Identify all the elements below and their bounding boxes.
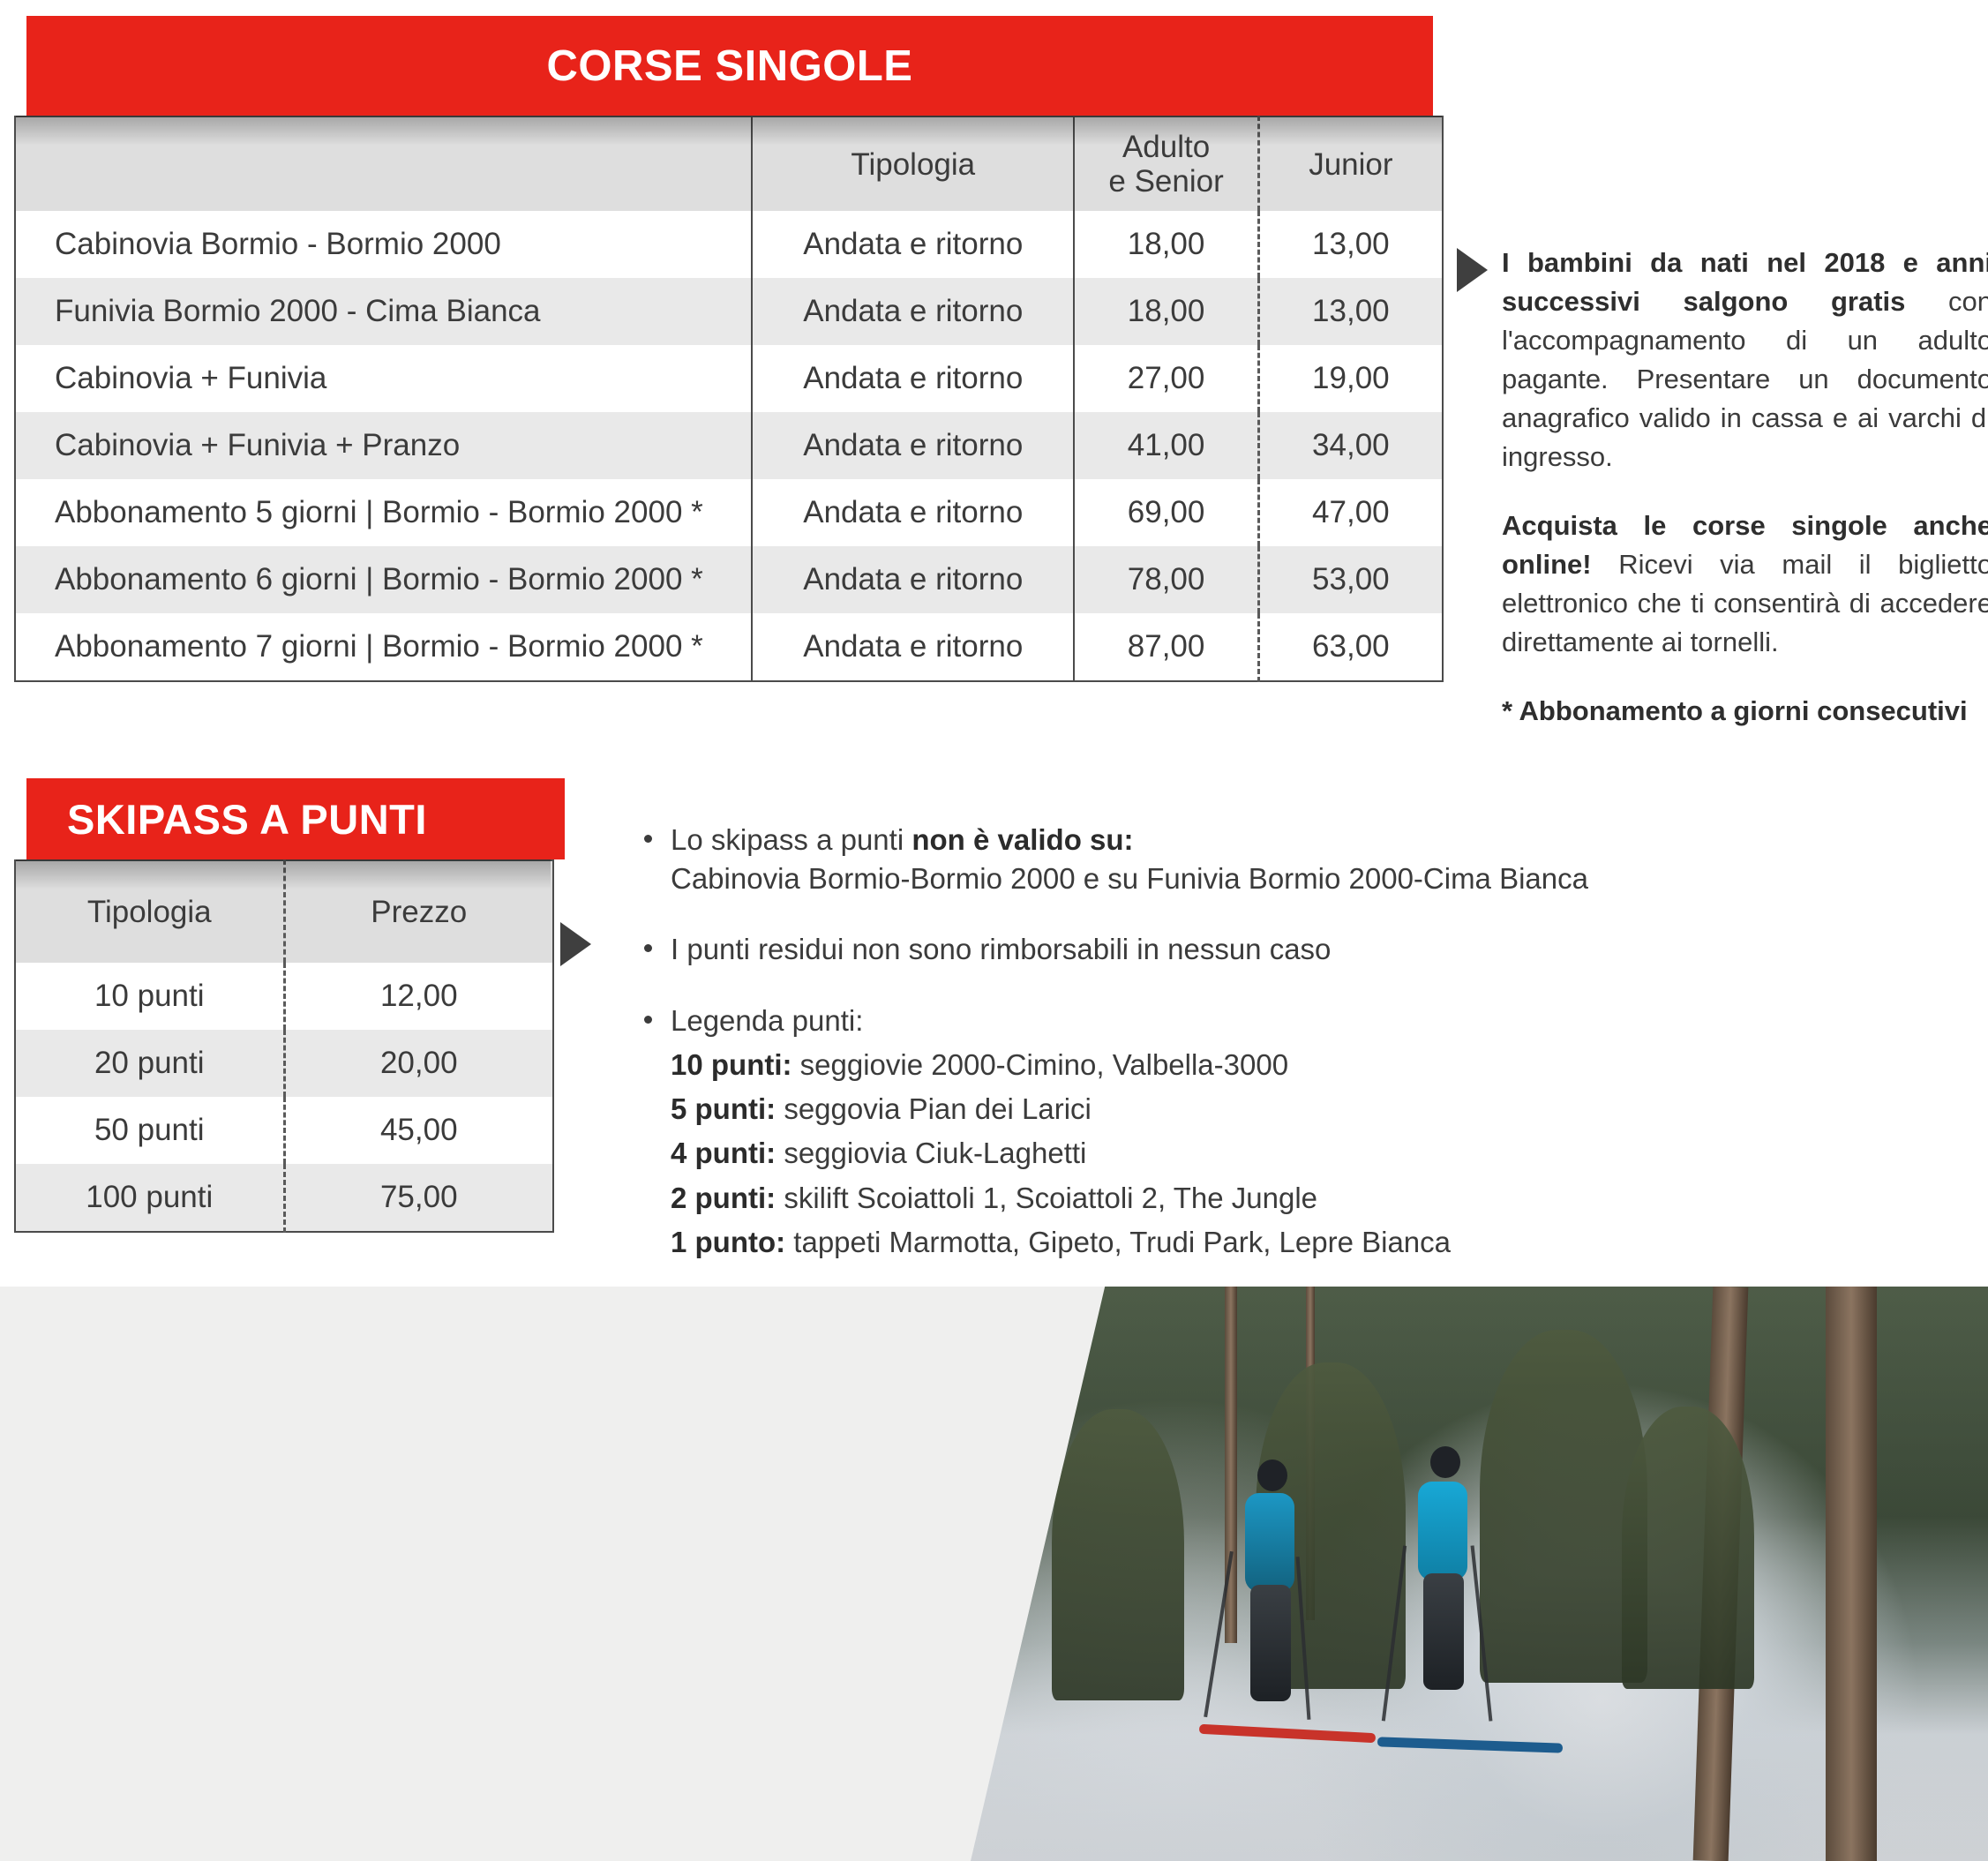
bullet-dot-icon bbox=[644, 944, 652, 952]
corse-row-tipologia: Andata e ritorno bbox=[752, 211, 1074, 278]
legend-points: 5 punti: bbox=[671, 1092, 776, 1125]
legend-points: 4 punti: bbox=[671, 1137, 776, 1169]
corse-row-tipologia: Andata e ritorno bbox=[752, 412, 1074, 479]
legend-desc: seggovia Pian dei Larici bbox=[776, 1092, 1092, 1125]
skipass-header-row: Tipologia Prezzo bbox=[15, 860, 553, 963]
corse-row-junior: 13,00 bbox=[1258, 278, 1443, 345]
corse-row-adulto: 27,00 bbox=[1074, 345, 1258, 412]
legend-points: 10 punti: bbox=[671, 1048, 792, 1081]
corse-singole-title: CORSE SINGOLE bbox=[547, 41, 913, 91]
skipass-header-prezzo: Prezzo bbox=[284, 860, 553, 963]
skipass-row-tipologia: 50 punti bbox=[15, 1097, 284, 1164]
skipass-bullet-legenda: Legenda punti: 10 punti: seggiovie 2000-… bbox=[644, 1002, 1615, 1262]
corse-note-bambini: I bambini da nati nel 2018 e anni succes… bbox=[1502, 244, 1988, 477]
skipass-bullet-validita: Lo skipass a punti non è valido su: Cabi… bbox=[644, 821, 1615, 898]
table-row: Funivia Bormio 2000 - Cima Bianca Andata… bbox=[15, 278, 1443, 345]
corse-row-junior: 13,00 bbox=[1258, 211, 1443, 278]
legend-desc: skilift Scoiattoli 1, Scoiattoli 2, The … bbox=[776, 1182, 1317, 1214]
table-row: Cabinovia Bormio - Bormio 2000 Andata e … bbox=[15, 211, 1443, 278]
skipass-bullet-line2: Cabinovia Bormio-Bormio 2000 e su Funivi… bbox=[671, 859, 1615, 898]
skipass-row-prezzo: 20,00 bbox=[284, 1030, 553, 1097]
corse-singole-table: Tipologia Adulto e Senior Junior Cabinov… bbox=[14, 116, 1444, 682]
corse-singole-banner: CORSE SINGOLE bbox=[26, 16, 1433, 116]
table-row: 100 punti 75,00 bbox=[15, 1164, 553, 1232]
skipass-header-tipologia: Tipologia bbox=[15, 860, 284, 963]
list-item: 1 punto: tappeti Marmotta, Gipeto, Trudi… bbox=[671, 1223, 1615, 1262]
list-item: 2 punti: skilift Scoiattoli 1, Scoiattol… bbox=[671, 1179, 1615, 1218]
corse-row-tipologia: Andata e ritorno bbox=[752, 479, 1074, 546]
legend-desc: seggiovie 2000-Cimino, Valbella-3000 bbox=[792, 1048, 1289, 1081]
skipass-bullet-pre: Lo skipass a punti bbox=[671, 823, 911, 856]
corse-note-asterisk: * Abbonamento a giorni consecutivi bbox=[1502, 692, 1988, 731]
table-row: Abbonamento 5 giorni | Bormio - Bormio 2… bbox=[15, 479, 1443, 546]
corse-row-tipologia: Andata e ritorno bbox=[752, 546, 1074, 613]
bullet-dot-icon bbox=[644, 835, 652, 843]
skipass-row-tipologia: 10 punti bbox=[15, 963, 284, 1030]
skipass-row-tipologia: 100 punti bbox=[15, 1164, 284, 1232]
skipass-legend-title: Legenda punti: bbox=[671, 1002, 1615, 1040]
skipass-row-prezzo: 45,00 bbox=[284, 1097, 553, 1164]
corse-row-junior: 47,00 bbox=[1258, 479, 1443, 546]
legend-desc: seggiovia Ciuk-Laghetti bbox=[776, 1137, 1086, 1169]
corse-row-name: Abbonamento 6 giorni | Bormio - Bormio 2… bbox=[15, 546, 752, 613]
list-item: 4 punti: seggiovia Ciuk-Laghetti bbox=[671, 1134, 1615, 1173]
corse-row-name: Abbonamento 5 giorni | Bormio - Bormio 2… bbox=[15, 479, 752, 546]
corse-row-name: Cabinovia Bormio - Bormio 2000 bbox=[15, 211, 752, 278]
ski-touring-photo bbox=[971, 1287, 1988, 1861]
corse-header-junior: Junior bbox=[1258, 116, 1443, 211]
corse-row-junior: 63,00 bbox=[1258, 613, 1443, 681]
sci-alpinismo-panel: SCI ALPINISMO A BORMIO 2000 Il percorso … bbox=[0, 1287, 1988, 1861]
corse-note-online: Acquista le corse singole anche online! … bbox=[1502, 507, 1988, 662]
corse-row-name: Funivia Bormio 2000 - Cima Bianca bbox=[15, 278, 752, 345]
bullet-dot-icon bbox=[644, 1016, 652, 1024]
corse-row-tipologia: Andata e ritorno bbox=[752, 278, 1074, 345]
corse-row-adulto: 87,00 bbox=[1074, 613, 1258, 681]
table-row: Abbonamento 6 giorni | Bormio - Bormio 2… bbox=[15, 546, 1443, 613]
corse-header-blank bbox=[15, 116, 752, 211]
corse-row-junior: 19,00 bbox=[1258, 345, 1443, 412]
corse-row-adulto: 18,00 bbox=[1074, 278, 1258, 345]
skipass-table: Tipologia Prezzo 10 punti 12,00 20 punti… bbox=[14, 859, 554, 1233]
skipass-bullet-rimborsi-text: I punti residui non sono rimborsabili in… bbox=[671, 930, 1615, 969]
corse-row-name: Abbonamento 7 giorni | Bormio - Bormio 2… bbox=[15, 613, 752, 681]
corse-row-adulto: 78,00 bbox=[1074, 546, 1258, 613]
skipass-notes-panel: Lo skipass a punti non è valido su: Cabi… bbox=[644, 821, 1615, 1262]
triangle-right-icon bbox=[560, 922, 591, 966]
skipass-row-prezzo: 12,00 bbox=[284, 963, 553, 1030]
skipass-bullet-line1: Lo skipass a punti non è valido su: bbox=[671, 821, 1615, 859]
corse-notes-panel: I bambini da nati nel 2018 e anni succes… bbox=[1502, 244, 1988, 731]
table-row: 20 punti 20,00 bbox=[15, 1030, 553, 1097]
corse-row-name: Cabinovia + Funivia bbox=[15, 345, 752, 412]
skipass-table-wrapper: Tipologia Prezzo 10 punti 12,00 20 punti… bbox=[14, 859, 552, 1233]
legend-desc: tappeti Marmotta, Gipeto, Trudi Park, Le… bbox=[785, 1226, 1451, 1258]
corse-row-adulto: 69,00 bbox=[1074, 479, 1258, 546]
corse-note-asterisk-text: * Abbonamento a giorni consecutivi bbox=[1502, 695, 1968, 726]
table-row: Abbonamento 7 giorni | Bormio - Bormio 2… bbox=[15, 613, 1443, 681]
corse-header-adulto: Adulto e Senior bbox=[1074, 116, 1258, 211]
corse-row-adulto: 18,00 bbox=[1074, 211, 1258, 278]
corse-row-adulto: 41,00 bbox=[1074, 412, 1258, 479]
corse-singole-table-wrapper: Tipologia Adulto e Senior Junior Cabinov… bbox=[14, 116, 1444, 682]
skipass-punti-banner: SKIPASS A PUNTI bbox=[26, 778, 565, 859]
corse-row-junior: 34,00 bbox=[1258, 412, 1443, 479]
skipass-bullet-rimborsi: I punti residui non sono rimborsabili in… bbox=[644, 930, 1615, 969]
skipass-row-prezzo: 75,00 bbox=[284, 1164, 553, 1232]
corse-header-tipologia: Tipologia bbox=[752, 116, 1074, 211]
skipass-bullet-bold: non è valido su: bbox=[911, 823, 1133, 856]
corse-row-junior: 53,00 bbox=[1258, 546, 1443, 613]
corse-row-tipologia: Andata e ritorno bbox=[752, 345, 1074, 412]
corse-header-adulto-line1: Adulto bbox=[1122, 130, 1210, 164]
table-row: 50 punti 45,00 bbox=[15, 1097, 553, 1164]
corse-header-row: Tipologia Adulto e Senior Junior bbox=[15, 116, 1443, 211]
corse-header-adulto-line2: e Senior bbox=[1108, 164, 1223, 199]
table-row: Cabinovia + Funivia + Pranzo Andata e ri… bbox=[15, 412, 1443, 479]
triangle-right-icon bbox=[1457, 248, 1488, 292]
legend-points: 2 punti: bbox=[671, 1182, 776, 1214]
legend-points: 1 punto: bbox=[671, 1226, 785, 1258]
table-row: Cabinovia + Funivia Andata e ritorno 27,… bbox=[15, 345, 1443, 412]
list-item: 10 punti: seggiovie 2000-Cimino, Valbell… bbox=[671, 1046, 1615, 1084]
skipass-row-tipologia: 20 punti bbox=[15, 1030, 284, 1097]
corse-row-name: Cabinovia + Funivia + Pranzo bbox=[15, 412, 752, 479]
pricing-flyer-page: CORSE SINGOLE Tipologia Adulto e Senior … bbox=[0, 0, 1988, 1861]
table-row: 10 punti 12,00 bbox=[15, 963, 553, 1030]
skipass-punti-title: SKIPASS A PUNTI bbox=[67, 795, 427, 844]
list-item: 5 punti: seggovia Pian dei Larici bbox=[671, 1090, 1615, 1129]
corse-row-tipologia: Andata e ritorno bbox=[752, 613, 1074, 681]
